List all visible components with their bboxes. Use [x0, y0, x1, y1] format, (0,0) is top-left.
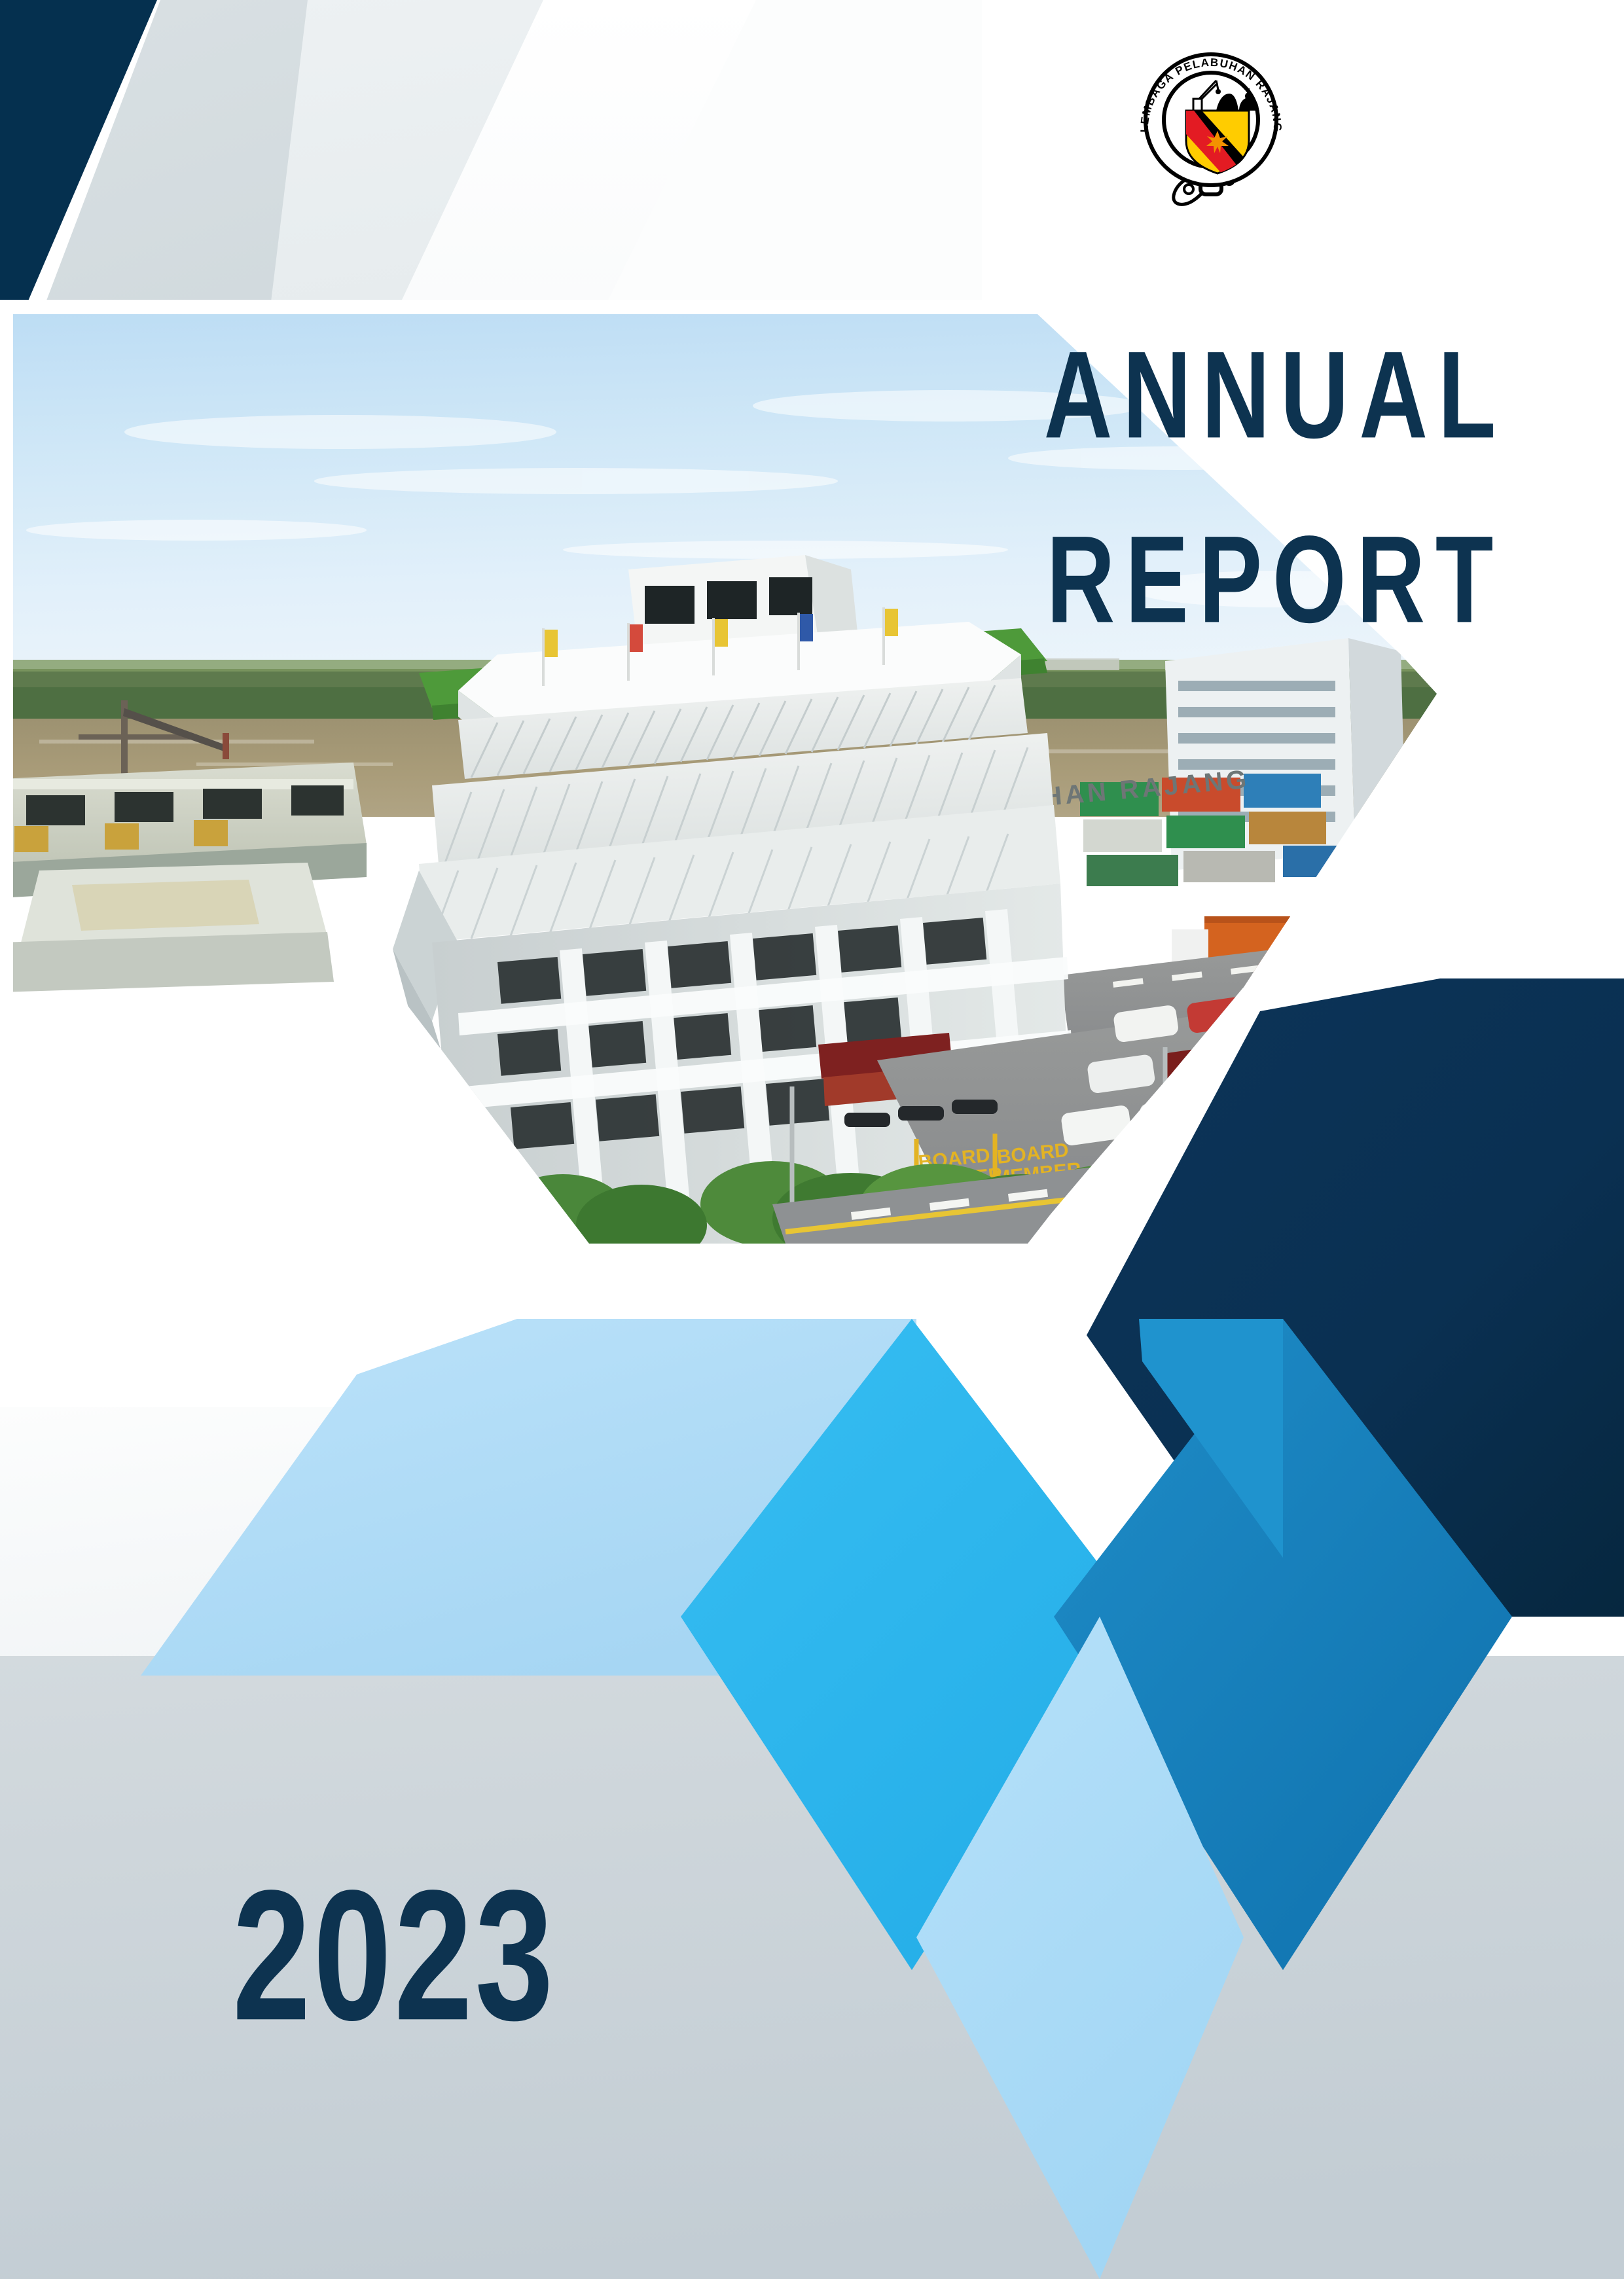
organization-logo: LEMBAGA PELABUHAN RAJANG: [1132, 43, 1290, 206]
cover-year: 2023: [232, 1862, 556, 2003]
title-line-annual: ANNUAL: [981, 308, 1559, 484]
photo-warehouse-left: [0, 763, 367, 992]
year-value: 2023: [232, 1862, 556, 2048]
photo-flagpoles-forecourt: [1231, 1012, 1299, 1152]
annual-report-cover: LEMBAGA PELABUHAN RAJANG: [0, 0, 1624, 2279]
title-line-report: REPORT: [981, 492, 1559, 668]
logo-seal-svg: LEMBAGA PELABUHAN RAJANG: [1132, 43, 1290, 206]
anchor-hole-left-icon: [1184, 185, 1193, 194]
cover-title: ANNUAL REPORT: [975, 308, 1564, 630]
